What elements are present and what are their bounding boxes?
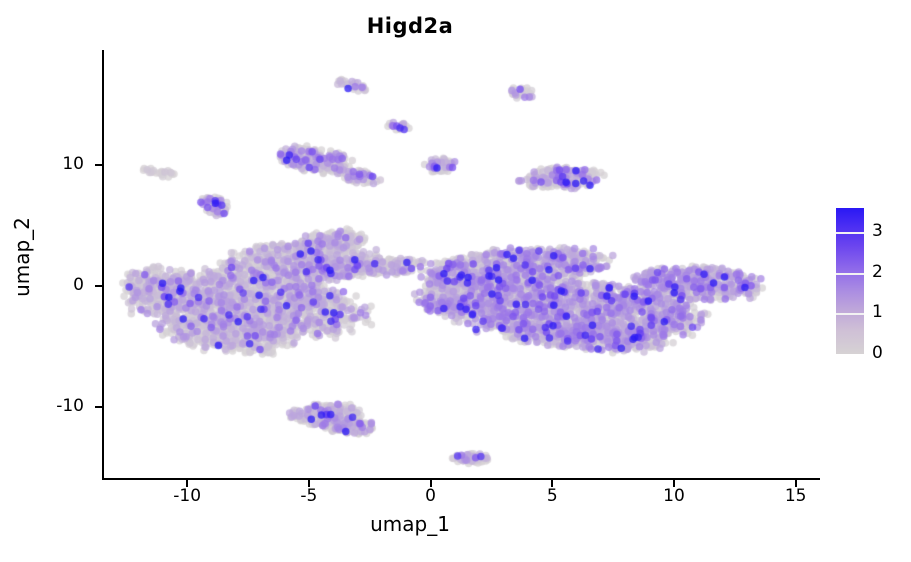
- colorbar-tick-label: 1: [872, 304, 883, 321]
- y-tick-mark: [95, 164, 102, 166]
- colorbar-tick-label: 2: [872, 264, 883, 281]
- colorbar-tick-mark: [836, 232, 864, 234]
- x-tick-label: 10: [644, 486, 704, 506]
- page-title: Higd2a: [0, 14, 820, 38]
- x-axis-label: umap_1: [0, 512, 820, 536]
- x-tick-label: 15: [766, 486, 826, 506]
- scatter-canvas: [104, 50, 822, 480]
- colorbar-tick-mark: [836, 273, 864, 275]
- y-tick-mark: [95, 285, 102, 287]
- y-axis-label: umap_2: [10, 197, 34, 317]
- x-tick-label: 5: [522, 486, 582, 506]
- x-tick-label: -5: [279, 486, 339, 506]
- umap-feature-plot-figure: Higd2a -10-5051015 100-10 umap_1 umap_2 …: [0, 0, 911, 562]
- y-tick-label: -10: [24, 396, 84, 416]
- x-tick-label: 0: [401, 486, 461, 506]
- x-tick-label: -10: [157, 486, 217, 506]
- y-tick-label: 10: [24, 154, 84, 174]
- colorbar-tick-label: 3: [872, 223, 883, 240]
- y-tick-mark: [95, 406, 102, 408]
- colorbar-gradient: [836, 208, 864, 354]
- plot-axes-area: [102, 50, 820, 480]
- colorbar-tick-label: 0: [872, 345, 883, 362]
- colorbar: [836, 208, 864, 354]
- colorbar-tick-mark: [836, 313, 864, 315]
